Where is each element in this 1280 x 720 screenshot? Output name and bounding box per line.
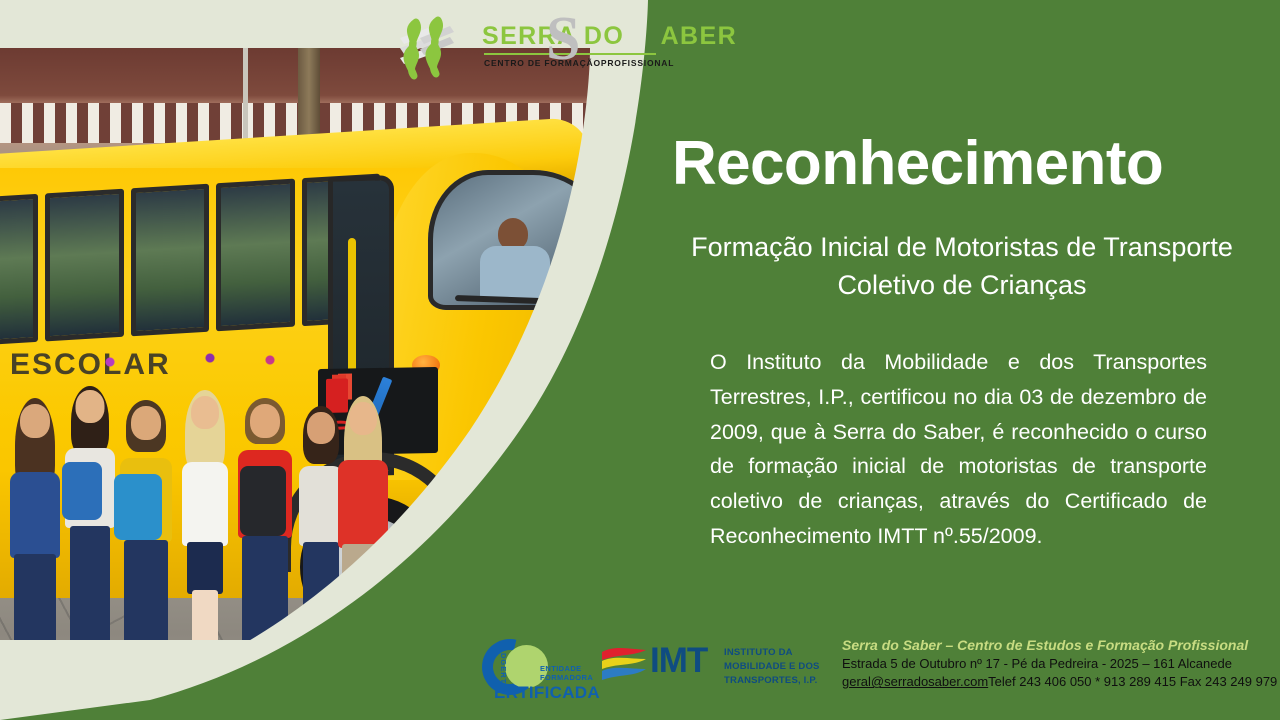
bus-window xyxy=(0,194,38,347)
imt-wordmark: IMT xyxy=(650,643,707,678)
footer-contacts: geral@serradosaber.comTelef 243 406 050 … xyxy=(842,673,1272,691)
bus-window xyxy=(45,189,123,342)
dgert-label: DGERT xyxy=(499,653,508,684)
imt-logo: IMT INSTITUTO DA MOBILIDADE E DOS TRANSP… xyxy=(600,640,820,702)
body-paragraph: O Instituto da Mobilidade e dos Transpor… xyxy=(710,345,1207,554)
child xyxy=(180,390,230,640)
page-title: Reconhecimento xyxy=(672,131,1252,196)
imt-subtitle: INSTITUTO DA MOBILIDADE E DOS TRANSPORTE… xyxy=(724,646,820,687)
child xyxy=(8,398,62,640)
footer-address: Estrada 5 de Outubro nº 17 - Pé da Pedre… xyxy=(842,655,1272,673)
serra-do-saber-logo: SERRA DO ABER CENTRO DE FORMAÇÃO PROFISS… xyxy=(398,14,658,82)
imt-subtitle-line3: TRANSPORTES, I.P. xyxy=(724,674,820,688)
logo-sub-left: CENTRO DE FORMAÇÃO xyxy=(484,58,601,68)
dgert-entity-line1: ENTIDADE xyxy=(540,664,593,673)
dgert-entity-label: ENTIDADE FORMADORA xyxy=(540,664,593,683)
dgert-entity-line2: FORMADORA xyxy=(540,673,593,682)
footer-phones: Telef 243 406 050 * 913 289 415 Fax 243 … xyxy=(988,674,1277,689)
footer: Serra do Saber – Centro de Estudos e For… xyxy=(842,636,1272,691)
footer-org-name: Serra do Saber – Centro de Estudos e For… xyxy=(842,636,1272,655)
page-subtitle: Formação Inicial de Motoristas de Transp… xyxy=(684,228,1240,305)
child xyxy=(236,398,294,640)
footer-email-link[interactable]: geral@serradosaber.com xyxy=(842,674,988,689)
bus-window xyxy=(216,179,294,332)
imt-subtitle-line1: INSTITUTO DA xyxy=(724,646,820,660)
logo-word-right: ABER xyxy=(661,22,737,50)
bus-window-strip xyxy=(0,174,380,347)
imt-subtitle-line2: MOBILIDADE E DOS xyxy=(724,660,820,674)
bus-driver-body xyxy=(480,246,550,298)
dgert-certified-badge: DGERT ENTIDADE FORMADORA ERTIFICADA xyxy=(478,637,596,709)
logo-leaf-book-icon xyxy=(398,16,484,80)
logo-stylized-s-icon: S xyxy=(546,8,580,70)
logo-sub-right: PROFISSIONAL xyxy=(601,58,674,68)
child xyxy=(118,400,174,640)
dgert-certified-word: ERTIFICADA xyxy=(494,683,600,703)
bus-window xyxy=(131,184,209,337)
imt-flag-icon xyxy=(600,646,648,690)
child xyxy=(64,386,116,640)
slide-root: ESCOLAR xyxy=(0,0,1280,720)
